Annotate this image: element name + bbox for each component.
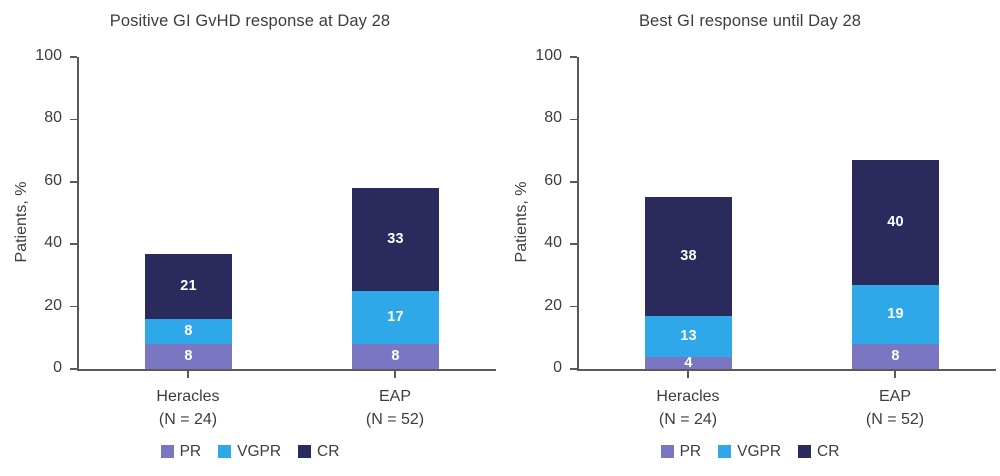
category-name: Heracles	[98, 385, 278, 408]
bar-segment-cr[interactable]: 21	[145, 254, 232, 320]
bar-segment-value: 8	[184, 324, 192, 339]
legend: PRVGPRCR	[0, 444, 500, 460]
bar-segment-vgpr[interactable]: 8	[145, 319, 232, 344]
x-axis-tick	[187, 370, 189, 378]
bar-segment-value: 38	[680, 249, 697, 264]
bar-segment-vgpr[interactable]: 17	[352, 291, 439, 344]
y-axis-title: Patients, %	[513, 122, 531, 322]
legend-swatch-icon	[218, 445, 231, 458]
y-axis-tick-label: 100	[0, 47, 62, 65]
legend-item-vgpr[interactable]: VGPR	[718, 444, 781, 460]
bar-segment-value: 13	[680, 329, 697, 344]
x-axis-tick	[394, 370, 396, 378]
category-label: EAP(N = 52)	[805, 385, 985, 431]
y-axis-tick	[70, 119, 77, 121]
bar-segment-cr[interactable]: 38	[645, 197, 732, 316]
y-axis-tick	[70, 306, 77, 308]
legend-swatch-icon	[718, 445, 731, 458]
legend-item-cr[interactable]: CR	[298, 444, 339, 460]
y-axis-tick	[570, 119, 577, 121]
category-sample-size: (N = 24)	[98, 408, 278, 431]
bar-segment-value: 33	[387, 232, 404, 247]
legend-swatch-icon	[798, 445, 811, 458]
bar-segment-pr[interactable]: 8	[352, 344, 439, 369]
category-sample-size: (N = 52)	[305, 408, 485, 431]
y-axis-tick	[70, 56, 77, 58]
y-axis-tick	[570, 243, 577, 245]
x-axis-tick	[687, 370, 689, 378]
bar-segment-value: 19	[887, 307, 904, 322]
y-axis-tick	[570, 56, 577, 58]
y-axis-tick-label: 40	[500, 234, 562, 252]
chart-panel-best-gi-response: Best GI response until Day 28 Patients, …	[500, 0, 1000, 476]
bar-segment-pr[interactable]: 8	[145, 344, 232, 369]
category-label: Heracles(N = 24)	[98, 385, 278, 431]
y-axis-tick-label: 20	[0, 297, 62, 315]
legend-label: CR	[817, 444, 839, 460]
bar-segment-vgpr[interactable]: 13	[645, 316, 732, 357]
bar-segment-value: 8	[891, 349, 899, 364]
legend-item-cr[interactable]: CR	[798, 444, 839, 460]
y-axis-tick-label: 40	[0, 234, 62, 252]
bar-segment-value: 8	[391, 349, 399, 364]
category-label: EAP(N = 52)	[305, 385, 485, 431]
y-axis-tick	[570, 306, 577, 308]
y-axis-line	[77, 57, 79, 370]
plot-area: Patients, % 020406080100 4133881940 Hera…	[500, 0, 1000, 476]
bar-stack[interactable]: 41338	[645, 0, 732, 369]
y-axis-tick-label: 60	[500, 172, 562, 190]
x-axis-line	[577, 369, 996, 371]
y-axis-tick-label: 80	[0, 109, 62, 127]
x-axis-line	[77, 369, 496, 371]
legend-label: PR	[680, 444, 702, 460]
plot-area: Patients, % 020406080100 882181733 Herac…	[0, 0, 500, 476]
y-axis-tick-label: 80	[500, 109, 562, 127]
y-axis-tick	[70, 368, 77, 370]
bar-stack[interactable]: 81733	[352, 0, 439, 369]
bar-segment-value: 17	[387, 310, 404, 325]
y-axis-line	[577, 57, 579, 370]
bar-segment-value: 40	[887, 215, 904, 230]
category-name: Heracles	[598, 385, 778, 408]
bar-segment-cr[interactable]: 40	[852, 160, 939, 285]
bar-segment-pr[interactable]: 8	[852, 344, 939, 369]
x-axis-tick	[894, 370, 896, 378]
bar-segment-value: 8	[184, 349, 192, 364]
legend-label: PR	[180, 444, 202, 460]
category-name: EAP	[805, 385, 985, 408]
legend-swatch-icon	[661, 445, 674, 458]
y-axis-tick-label: 0	[500, 359, 562, 377]
legend-item-pr[interactable]: PR	[161, 444, 202, 460]
legend-label: VGPR	[737, 444, 781, 460]
bar-segment-pr[interactable]: 4	[645, 357, 732, 369]
stacked-bar-figure: Positive GI GvHD response at Day 28 Pati…	[0, 0, 1000, 476]
y-axis-tick	[570, 368, 577, 370]
legend-label: VGPR	[237, 444, 281, 460]
legend-label: CR	[317, 444, 339, 460]
category-sample-size: (N = 24)	[598, 408, 778, 431]
bar-segment-vgpr[interactable]: 19	[852, 285, 939, 344]
bar-stack[interactable]: 8821	[145, 0, 232, 369]
bar-stack[interactable]: 81940	[852, 0, 939, 369]
category-sample-size: (N = 52)	[805, 408, 985, 431]
y-axis-tick-label: 0	[0, 359, 62, 377]
bar-segment-value: 4	[684, 356, 692, 371]
legend-item-vgpr[interactable]: VGPR	[218, 444, 281, 460]
legend-swatch-icon	[298, 445, 311, 458]
y-axis-title: Patients, %	[13, 122, 31, 322]
y-axis-tick-label: 20	[500, 297, 562, 315]
legend-item-pr[interactable]: PR	[661, 444, 702, 460]
category-name: EAP	[305, 385, 485, 408]
legend-swatch-icon	[161, 445, 174, 458]
bar-segment-value: 21	[180, 279, 197, 294]
y-axis-tick-label: 60	[0, 172, 62, 190]
y-axis-tick-label: 100	[500, 47, 562, 65]
bar-segment-cr[interactable]: 33	[352, 188, 439, 291]
legend: PRVGPRCR	[500, 444, 1000, 460]
y-axis-tick	[70, 243, 77, 245]
chart-panel-positive-gi-response: Positive GI GvHD response at Day 28 Pati…	[0, 0, 500, 476]
category-label: Heracles(N = 24)	[598, 385, 778, 431]
y-axis-tick	[570, 181, 577, 183]
y-axis-tick	[70, 181, 77, 183]
